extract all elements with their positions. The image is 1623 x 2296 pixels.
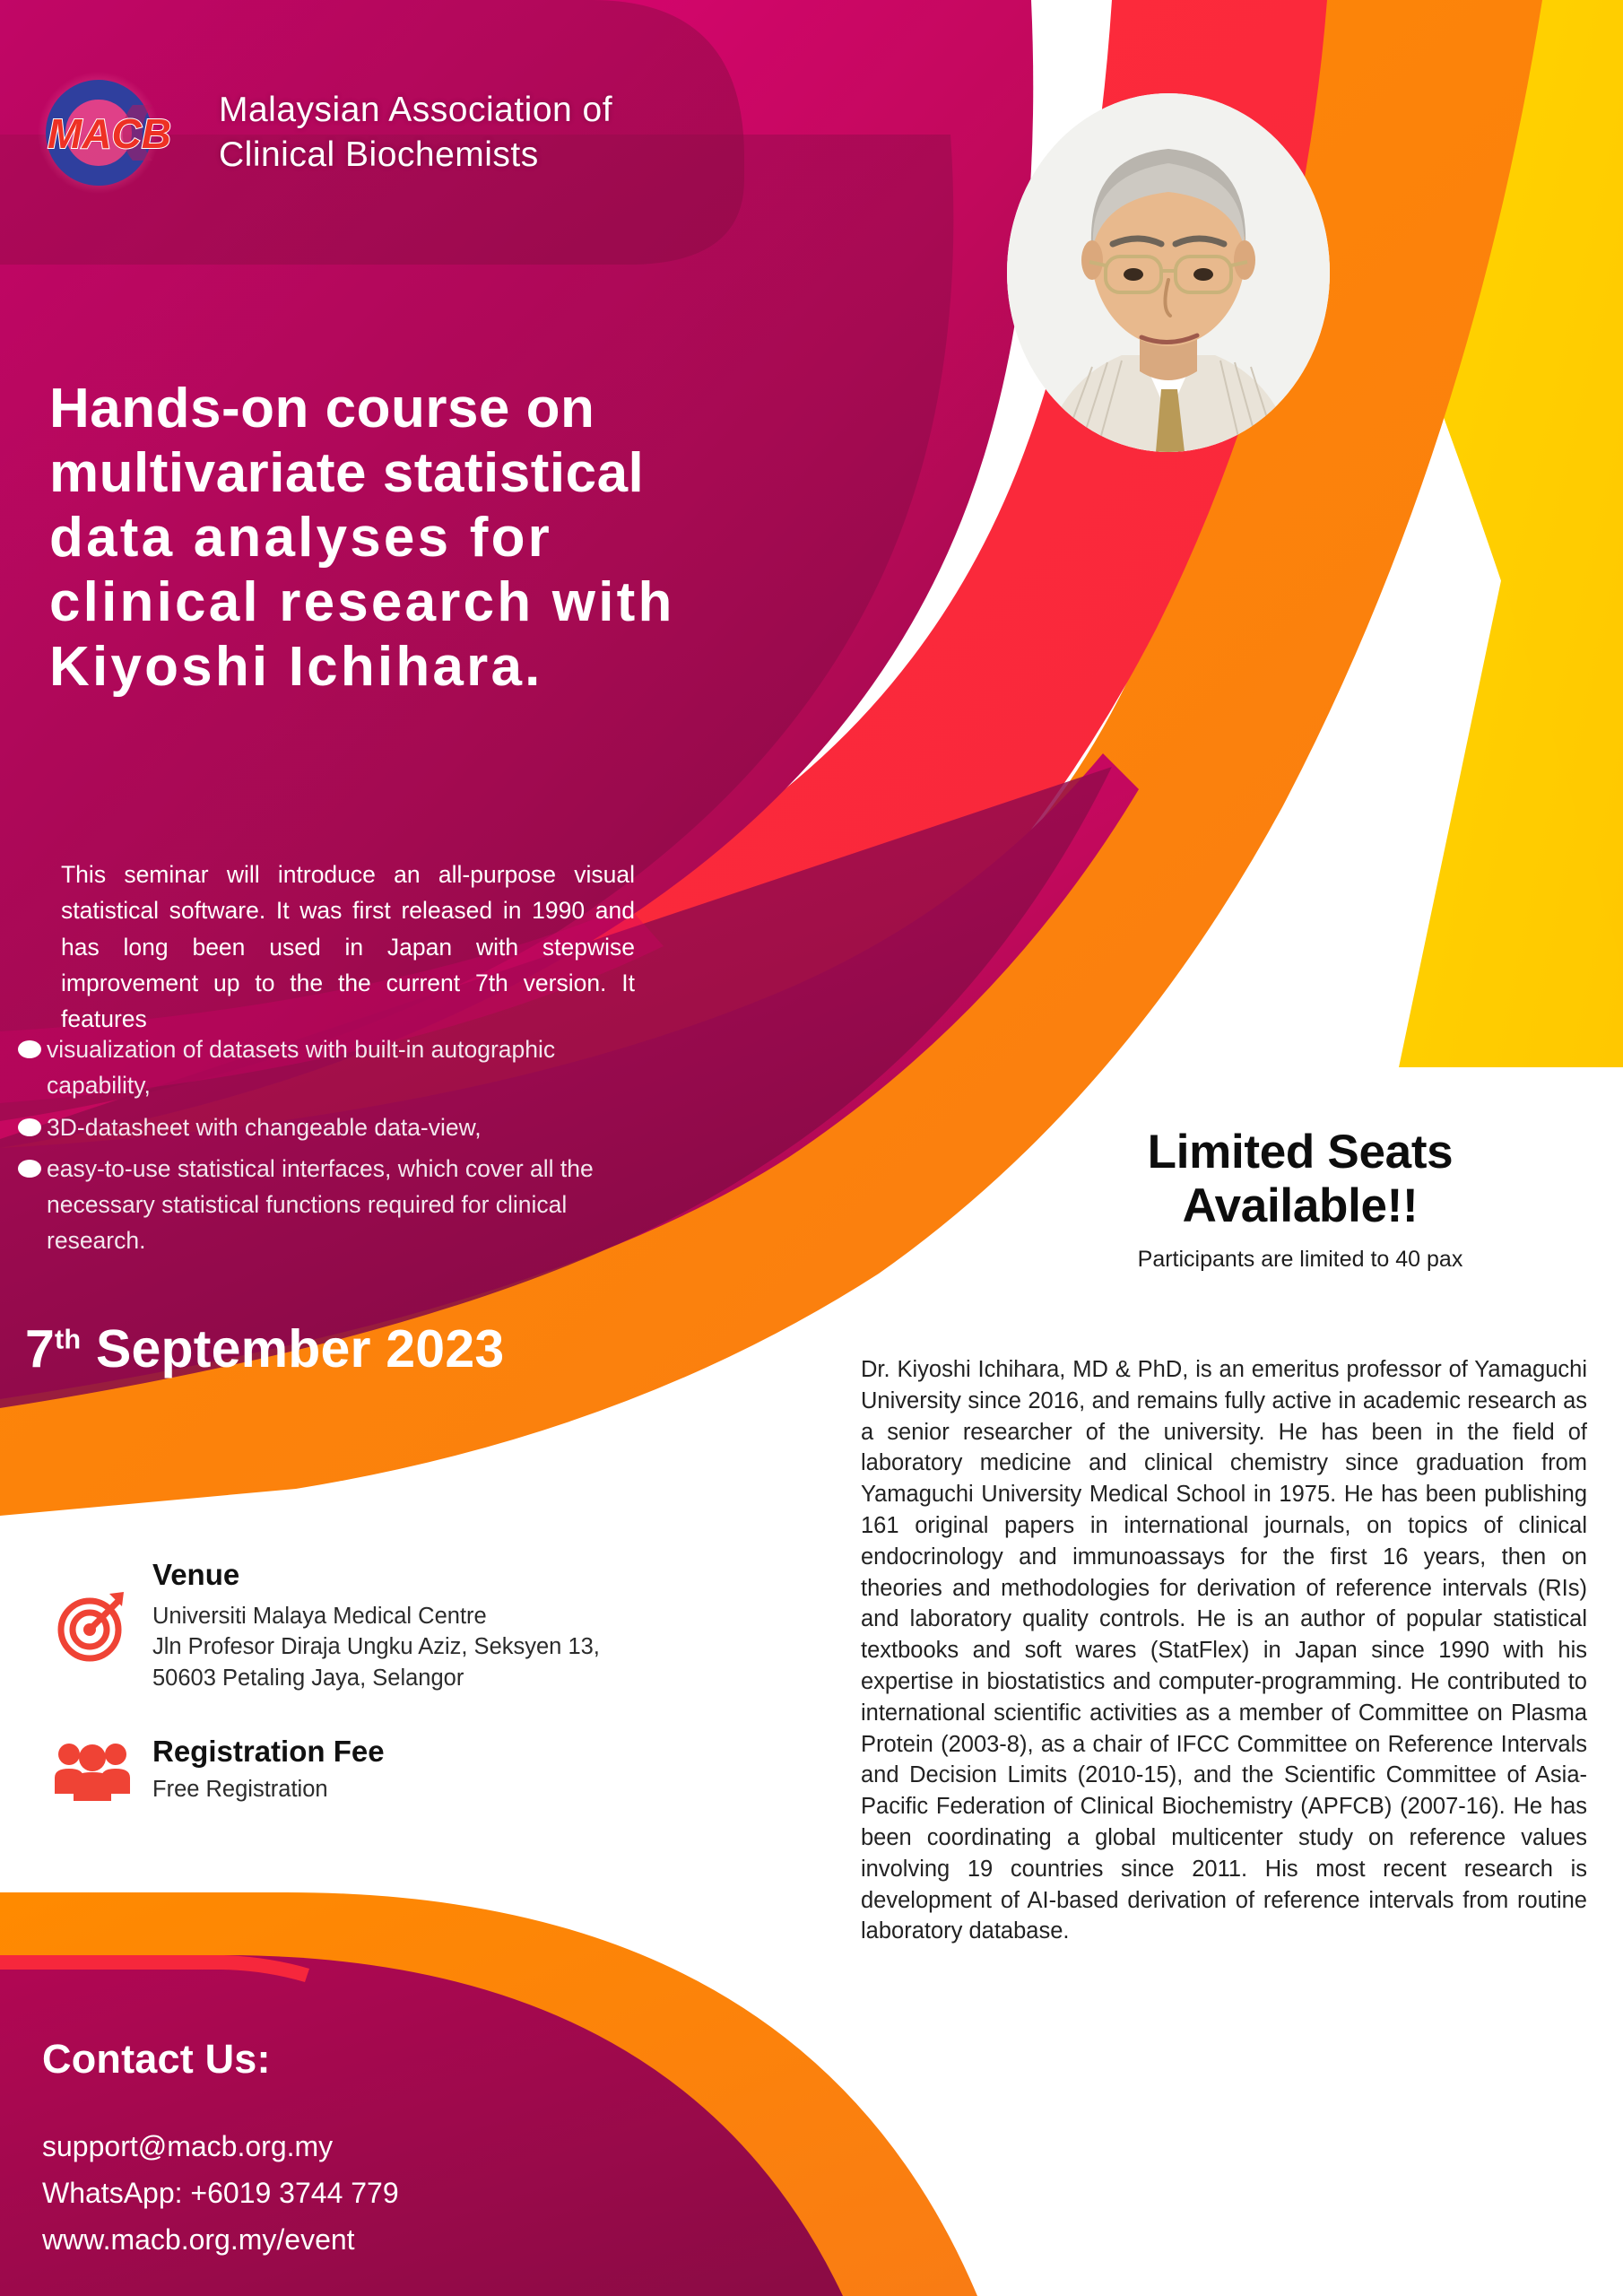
title-line-1: Hands-on course on: [49, 377, 713, 441]
seats-heading-line1: Limited Seats: [1148, 1126, 1454, 1178]
poster: MACB Malaysian Association of Clinical B…: [0, 0, 1623, 2296]
seats-subtext: Participants are limited to 40 pax: [1013, 1247, 1587, 1273]
seats-heading-line2: Available!!: [1183, 1179, 1419, 1232]
target-icon: [31, 1556, 152, 1664]
bullet-icon: [18, 1118, 41, 1136]
venue-line2: Jln Profesor Diraja Ungku Aziz, Seksyen …: [152, 1631, 767, 1662]
title-line-2: multivariate statistical: [49, 441, 713, 506]
contact-email[interactable]: support@macb.org.my: [42, 2124, 598, 2170]
organization-name: Malaysian Association of Clinical Bioche…: [206, 88, 612, 176]
date-ordinal: th: [55, 1323, 81, 1354]
contact-whatsapp[interactable]: WhatsApp: +6019 3744 779: [42, 2170, 598, 2217]
title-line-3: data analyses for: [49, 506, 713, 570]
registration-fee-block: Registration Fee Free Registration: [31, 1733, 767, 1805]
title-line-4: clinical research with: [49, 570, 713, 635]
title-line-5: Kiyoshi Ichihara.: [49, 635, 713, 700]
page-title: Hands-on course on multivariate statisti…: [49, 377, 713, 700]
contact-heading: Contact Us:: [42, 2036, 598, 2083]
venue-line1: Universiti Malaya Medical Centre: [152, 1601, 767, 1631]
poster-header: MACB Malaysian Association of Clinical B…: [0, 0, 717, 265]
macb-logo-text: MACB: [48, 110, 171, 157]
list-item: 3D-datasheet with changeable data-view,: [18, 1109, 646, 1145]
event-info: Venue Universiti Malaya Medical Centre J…: [31, 1556, 767, 1845]
venue-line3: 50603 Petaling Jaya, Selangor: [152, 1663, 767, 1693]
venue-block: Venue Universiti Malaya Medical Centre J…: [31, 1556, 767, 1693]
contact-website[interactable]: www.macb.org.my/event: [42, 2217, 598, 2264]
intro-paragraph: This seminar will introduce an all-purpo…: [61, 857, 635, 1037]
bullet-icon: [18, 1160, 41, 1178]
bullet-icon: [18, 1040, 41, 1058]
feature-text: 3D-datasheet with changeable data-view,: [47, 1109, 646, 1145]
org-name-line2: Clinical Biochemists: [219, 133, 612, 177]
speaker-portrait: [1007, 93, 1330, 452]
date-month-year: September 2023: [81, 1319, 504, 1378]
venue-body: Venue Universiti Malaya Medical Centre J…: [152, 1556, 767, 1693]
org-name-line1: Malaysian Association of: [219, 88, 612, 132]
list-item: visualization of datasets with built-in …: [18, 1031, 646, 1104]
speaker-bio: Dr. Kiyoshi Ichihara, MD & PhD, is an em…: [861, 1354, 1587, 1947]
contact-block: Contact Us: support@macb.org.my WhatsApp…: [42, 2036, 598, 2263]
list-item: easy-to-use statistical interfaces, whic…: [18, 1151, 646, 1259]
macb-ring-logo: MACB: [27, 65, 206, 200]
date-day: 7: [25, 1319, 55, 1378]
event-date: 7th September 2023: [25, 1318, 504, 1379]
feature-text: easy-to-use statistical interfaces, whic…: [47, 1151, 646, 1259]
fee-body: Registration Fee Free Registration: [152, 1733, 767, 1805]
fee-heading: Registration Fee: [152, 1735, 767, 1769]
people-group-icon: [31, 1733, 152, 1803]
feature-list: visualization of datasets with built-in …: [18, 1031, 646, 1265]
feature-text: visualization of datasets with built-in …: [47, 1031, 646, 1104]
venue-heading: Venue: [152, 1558, 767, 1592]
fee-value: Free Registration: [152, 1774, 767, 1805]
limited-seats-block: Limited Seats Available!! Participants a…: [1013, 1126, 1587, 1273]
